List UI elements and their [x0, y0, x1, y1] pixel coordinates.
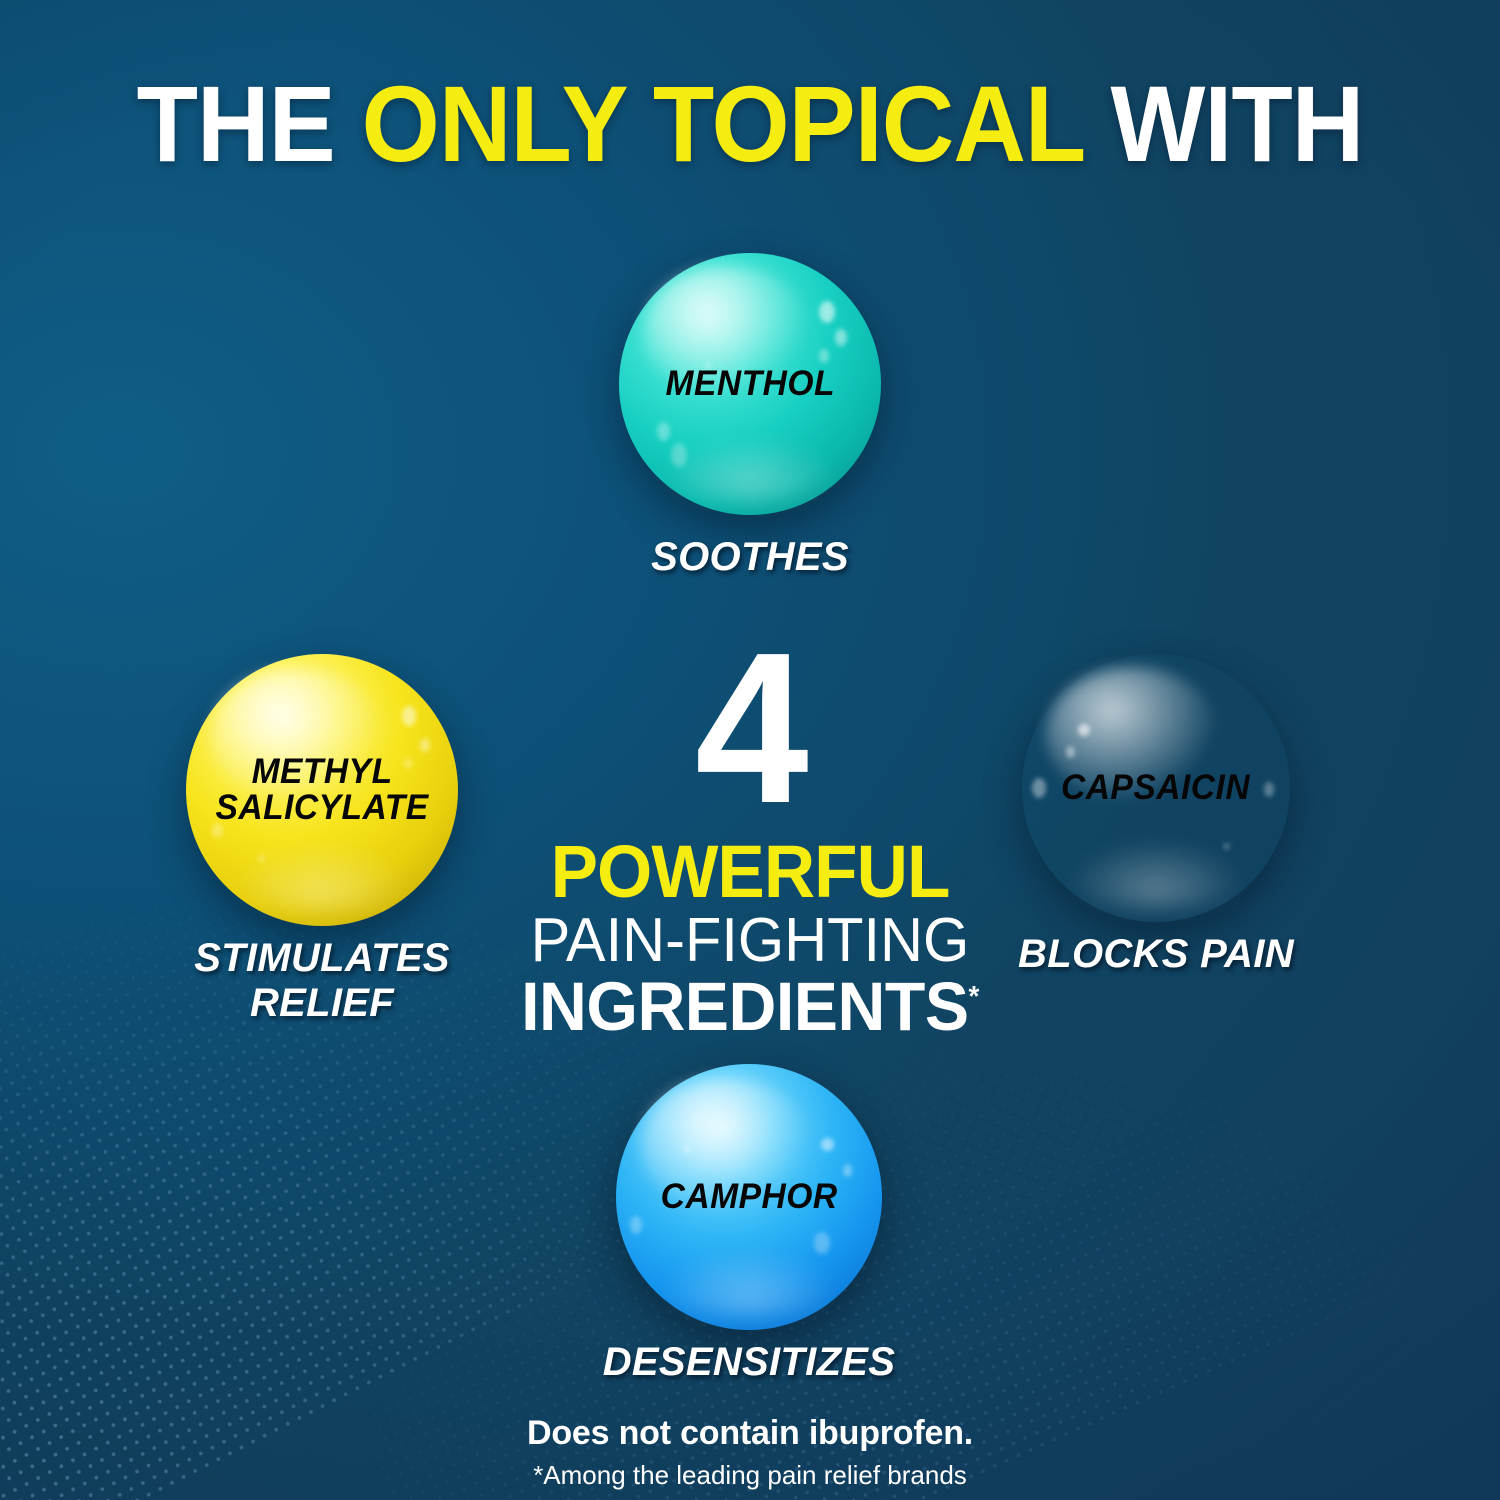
- ingredients-label: INGREDIENTS*: [30, 972, 1470, 1042]
- menthol-sphere: MENTHOL: [619, 253, 881, 515]
- footer: Does not contain ibuprofen. *Among the l…: [0, 1414, 1500, 1491]
- methyl-salicylate-label: METHYL SALICYLATE: [215, 754, 428, 825]
- pain-fighting-label: PAIN-FIGHTING: [30, 909, 1470, 972]
- camphor-label: CAMPHOR: [661, 1179, 838, 1215]
- capsaicin-label: CAPSAICIN: [1061, 770, 1250, 806]
- menthol-label: MENTHOL: [665, 366, 834, 402]
- headline-highlight: ONLY TOPICAL: [362, 63, 1084, 184]
- ingredients-word: INGREDIENTS: [521, 968, 968, 1045]
- footnote-asterisk: *: [969, 981, 979, 1013]
- page-title: THE ONLY TOPICAL WITH: [53, 70, 1448, 178]
- center-callout: 4 POWERFUL PAIN-FIGHTING INGREDIENTS*: [0, 636, 1500, 1043]
- ingredient-camphor: CAMPHOR DESENSITIZES: [616, 1064, 882, 1330]
- menthol-caption: SOOTHES: [540, 535, 960, 580]
- promo-graphic: THE ONLY TOPICAL WITH MENTHOL SOOTHES ME…: [0, 0, 1500, 1500]
- footer-disclaimer: Does not contain ibuprofen.: [0, 1414, 1500, 1453]
- camphor-caption: DESENSITIZES: [519, 1340, 979, 1385]
- ingredient-menthol: MENTHOL SOOTHES: [619, 253, 881, 515]
- headline-part-1: THE: [137, 63, 362, 184]
- powerful-label: POWERFUL: [30, 835, 1470, 909]
- footer-footnote: *Among the leading pain relief brands: [0, 1460, 1500, 1491]
- camphor-sphere: CAMPHOR: [616, 1064, 882, 1330]
- headline-part-2: WITH: [1084, 63, 1364, 184]
